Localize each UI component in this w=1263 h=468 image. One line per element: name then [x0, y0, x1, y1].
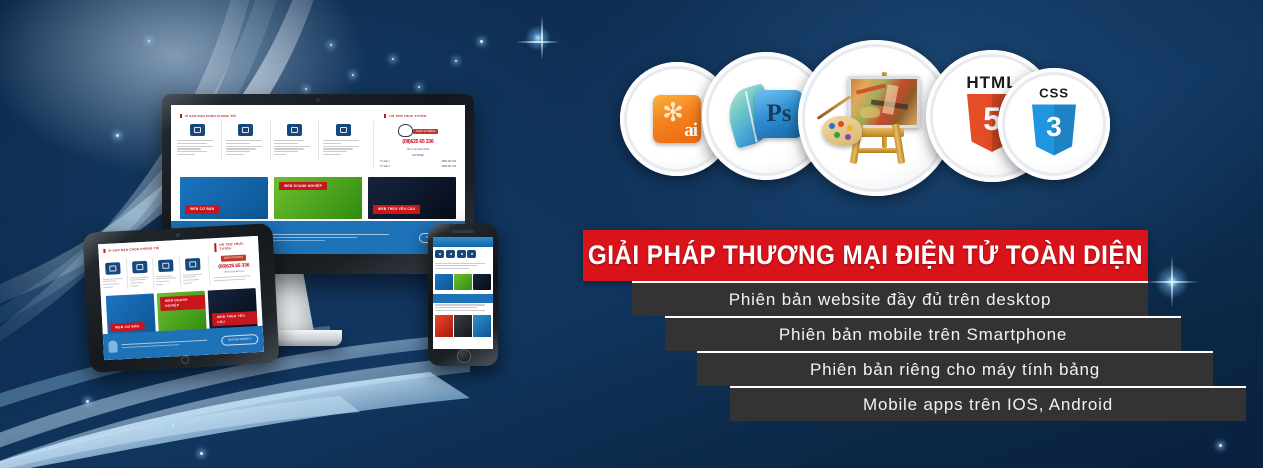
feature-bar-label: Phiên bản mobile trên Smartphone: [779, 325, 1067, 345]
support-note: Hỗ trợ kỹ thuật 24/24: [380, 148, 456, 152]
promo-card[interactable]: WEB DOANH NGHIỆP: [274, 177, 362, 219]
preview-heading-right: HỖ TRỢ TRỰC TUYẾN: [214, 241, 254, 252]
paint-palette-icon: [822, 116, 862, 146]
badge-icon: [435, 250, 444, 258]
feature-bar-label: Phiên bản website đầy đủ trên desktop: [729, 290, 1052, 310]
gear-icon: [238, 124, 253, 136]
feature-bar-label: Phiên bản riêng cho máy tính bảng: [810, 360, 1100, 380]
feature-bar-list: Phiên bản website đầy đủ trên desktop Ph…: [0, 281, 1263, 431]
badge-icon: [190, 124, 205, 136]
promo-card[interactable]: WEB THEO YÊU CẦU: [368, 177, 456, 219]
feature-bar[interactable]: Phiên bản riêng cho máy tính bảng: [697, 351, 1213, 386]
gear-icon: [132, 260, 148, 273]
circle-css3: CSS 3: [998, 68, 1110, 180]
shield-icon: [287, 124, 302, 136]
feature-bar[interactable]: Phiên bản website đầy đủ trên desktop: [632, 281, 1148, 316]
contact-value: 0938 497 012: [442, 165, 457, 169]
feature-column: [323, 121, 367, 160]
shield-icon: [457, 250, 466, 258]
support-name: NGÔI VÕ BẰNG: [221, 254, 246, 261]
support-name: NGÔI VÕ BẰNG: [413, 129, 438, 135]
promo-card[interactable]: WEB CƠ BẢN: [180, 177, 268, 219]
preview-heading-left: VÌ SAO BẠN CHỌN CHÚNG TÔI: [180, 114, 376, 119]
devices-icon: [467, 250, 476, 258]
flower-glyph: ✻: [660, 99, 686, 125]
webcam-icon: [316, 98, 320, 102]
feature-column: [274, 121, 319, 160]
contact-name: Tư Vấn 1: [380, 160, 390, 164]
contact-value: 0966 497 012: [442, 160, 457, 164]
headline-banner: GIẢI PHÁP THƯƠNG MẠI ĐIỆN TỬ TOÀN DIỆN: [583, 230, 1148, 281]
tablet-camera-icon: [176, 233, 180, 237]
support-phone: (08)625 65 336: [380, 139, 456, 147]
feature-bar[interactable]: Mobile apps trên IOS, Android: [730, 386, 1246, 421]
css3-caption: CSS: [1039, 86, 1069, 101]
photoshop-label: Ps: [767, 100, 792, 128]
css3-label: 3: [1046, 110, 1062, 143]
easel-crossbar: [856, 148, 900, 153]
preview-heading-left: VÌ SAO BẠN CHỌN CHÚNG TÔI: [103, 243, 210, 253]
earpiece-speaker-icon: [452, 230, 474, 233]
banner-artwork: VÌ SAO BẠN CHỌN CHÚNG TÔI HỖ TRỢ TRỰC TU…: [0, 0, 1263, 468]
painting-easel-icon: [826, 72, 926, 164]
feature-column: [177, 121, 222, 160]
gear-icon: [446, 250, 455, 258]
support-hotline-label: HOTLINE: [380, 154, 456, 158]
feature-column: [226, 121, 271, 160]
front-camera-icon: [446, 229, 450, 233]
badge-icon: [106, 262, 122, 275]
feature-bar-label: Mobile apps trên IOS, Android: [863, 395, 1113, 415]
adobe-illustrator-icon: ✻ ai: [653, 95, 701, 143]
css3-icon: 3: [1032, 104, 1076, 155]
headline-text: GIẢI PHÁP THƯƠNG MẠI ĐIỆN TỬ TOÀN DIỆN: [588, 240, 1143, 271]
devices-icon: [336, 124, 351, 136]
shield-icon: [158, 259, 174, 272]
illustrator-label: ai: [684, 120, 697, 142]
promo-card-title: WEB THEO YÊU CẦU: [373, 205, 420, 214]
promo-card-title: WEB DOANH NGHIỆP: [279, 182, 327, 191]
promo-card-title: WEB CƠ BẢN: [185, 205, 219, 214]
canvas-painting: [848, 76, 920, 128]
preview-heading-right: HỖ TRỢ TRỰC TUYẾN: [384, 114, 456, 119]
support-sidebar: NGÔI VÕ BẰNG (08)625 65 336 Hỗ trợ kỹ th…: [373, 121, 465, 168]
devices-icon: [185, 258, 201, 271]
contact-name: Tư Vấn 2: [380, 165, 390, 169]
mobile-topbar: [433, 237, 493, 247]
feature-bar[interactable]: Phiên bản mobile trên Smartphone: [665, 316, 1181, 351]
adobe-photoshop-icon: Ps: [729, 88, 803, 144]
technology-icon-row: ✻ ai Ps: [620, 40, 1140, 200]
operator-icon: [398, 124, 413, 137]
photoshop-label-box: Ps: [755, 90, 803, 138]
